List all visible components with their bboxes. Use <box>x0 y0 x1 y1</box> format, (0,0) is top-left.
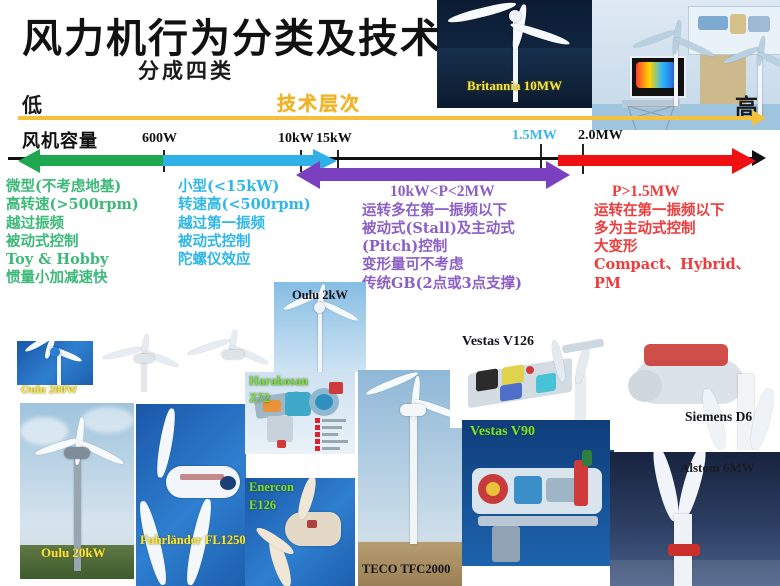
category-medium-line-3: (Pitch)控制 <box>362 238 522 256</box>
photo-vestasv90 <box>462 420 614 566</box>
photo-caption-fuhrlander: Fuhrländer FL1250 <box>140 533 246 548</box>
tech-axis-title: 技术层次 <box>277 89 361 116</box>
photo-caption-vestasv126: Vestas V126 <box>462 334 534 350</box>
tick-label-2-0mw: 2.0MW <box>578 128 623 144</box>
category-medium-line-1: 运转多在第一振频以下 <box>362 202 522 220</box>
category-text-micro: 微型(不考虑地基) 高转速(>500rpm) 越过振频 被动式控制 Toy & … <box>6 178 139 288</box>
photo-caption-britannia: Britannia 10MW <box>467 78 562 94</box>
tech-axis-low-label: 低 <box>22 89 42 118</box>
range-arrow-small <box>163 155 315 166</box>
photo-fuhrlander <box>136 404 246 586</box>
tick-label-15kw: 15kW <box>316 131 352 147</box>
photo-caption-alstom: Alstom 6MW <box>680 460 755 476</box>
category-micro-line-4: 被动式控制 <box>6 233 139 251</box>
photo-caption-enercon: Enercon <box>249 480 294 495</box>
category-micro-line-5: Toy & Hobby <box>6 251 139 269</box>
category-text-large: P>1.5MW 运转在第一振频以下 多为主动式控制 大变形 Compact、Hy… <box>594 182 750 293</box>
photo-caption-oulu200w: Oulu 200W <box>21 384 78 396</box>
category-large-line-2: 多为主动式控制 <box>594 220 750 238</box>
range-arrow-micro-head <box>18 149 40 173</box>
category-small-line-5: 陀螺仪效应 <box>178 251 311 269</box>
photo-caption-oulu2kw: Oulu 2kW <box>292 288 348 303</box>
tick-label-10kw: 10kW <box>278 131 314 147</box>
category-medium-line-2: 被动式(Stall)及主动式 <box>362 220 522 238</box>
category-large-line-4: Compact、Hybrid、 <box>594 256 750 274</box>
category-large-line-5: PM <box>594 275 750 293</box>
category-micro-line-2: 高转速(>500rpm) <box>6 196 139 214</box>
photo-caption-teco: TECO TFC2000 <box>362 562 450 577</box>
photo-caption-harakosan-model: Z72 <box>249 391 270 406</box>
category-medium-line-5: 传统GB(2点或3点支撑) <box>362 275 522 293</box>
range-arrow-large-head <box>732 148 756 174</box>
category-text-medium: 10kW<P<2MW 运转多在第一振频以下 被动式(Stall)及主动式 (Pi… <box>362 182 522 293</box>
photo-oulu200w <box>17 341 93 385</box>
photo-teco <box>358 370 462 586</box>
category-large-header: P>1.5MW <box>594 182 750 202</box>
slide-root: Britannia 10MW <box>0 0 780 586</box>
photo-caption-oulu20kw: Oulu 20kW <box>41 545 106 561</box>
photo-caption-vestasv90: Vestas V90 <box>470 424 535 440</box>
tech-axis-line <box>18 116 756 120</box>
range-arrow-medium <box>318 168 548 181</box>
tech-axis-arrowhead <box>752 110 766 126</box>
category-medium-line-4: 变形量可不考虑 <box>362 256 522 274</box>
category-small-line-4: 被动式控制 <box>178 233 311 251</box>
category-small-line-2: 转速高(<500rpm) <box>178 196 311 214</box>
tick-label-1-5mw: 1.5MW <box>512 128 557 144</box>
photo-siemens <box>610 330 780 450</box>
category-micro-line-6: 惯量小加减速快 <box>6 269 139 287</box>
category-small-line-3: 越过第一振频 <box>178 215 311 233</box>
photo-caption-siemens: Siemens D6 <box>685 409 752 425</box>
category-large-line-1: 运转在第一振频以下 <box>594 202 750 220</box>
page-subtitle: 分成四类 <box>138 55 234 85</box>
category-micro-line-3: 越过振频 <box>6 215 139 233</box>
range-arrow-micro <box>38 155 166 166</box>
photo-caption-harakosan: Harakosan <box>249 374 308 389</box>
category-text-small: 小型(<15kW) 转速高(<500rpm) 越过第一振频 被动式控制 陀螺仪效… <box>178 178 311 269</box>
category-small-line-1: 小型(<15kW) <box>178 178 311 196</box>
photo-small-turbine-a <box>96 330 182 392</box>
category-large-line-3: 大变形 <box>594 238 750 256</box>
category-micro-line-1: 微型(不考虑地基) <box>6 178 139 196</box>
range-arrow-large <box>558 155 734 166</box>
tick-label-600w: 600W <box>142 131 177 147</box>
category-medium-header: 10kW<P<2MW <box>362 182 522 202</box>
photo-caption-enercon-model: E126 <box>249 498 276 513</box>
